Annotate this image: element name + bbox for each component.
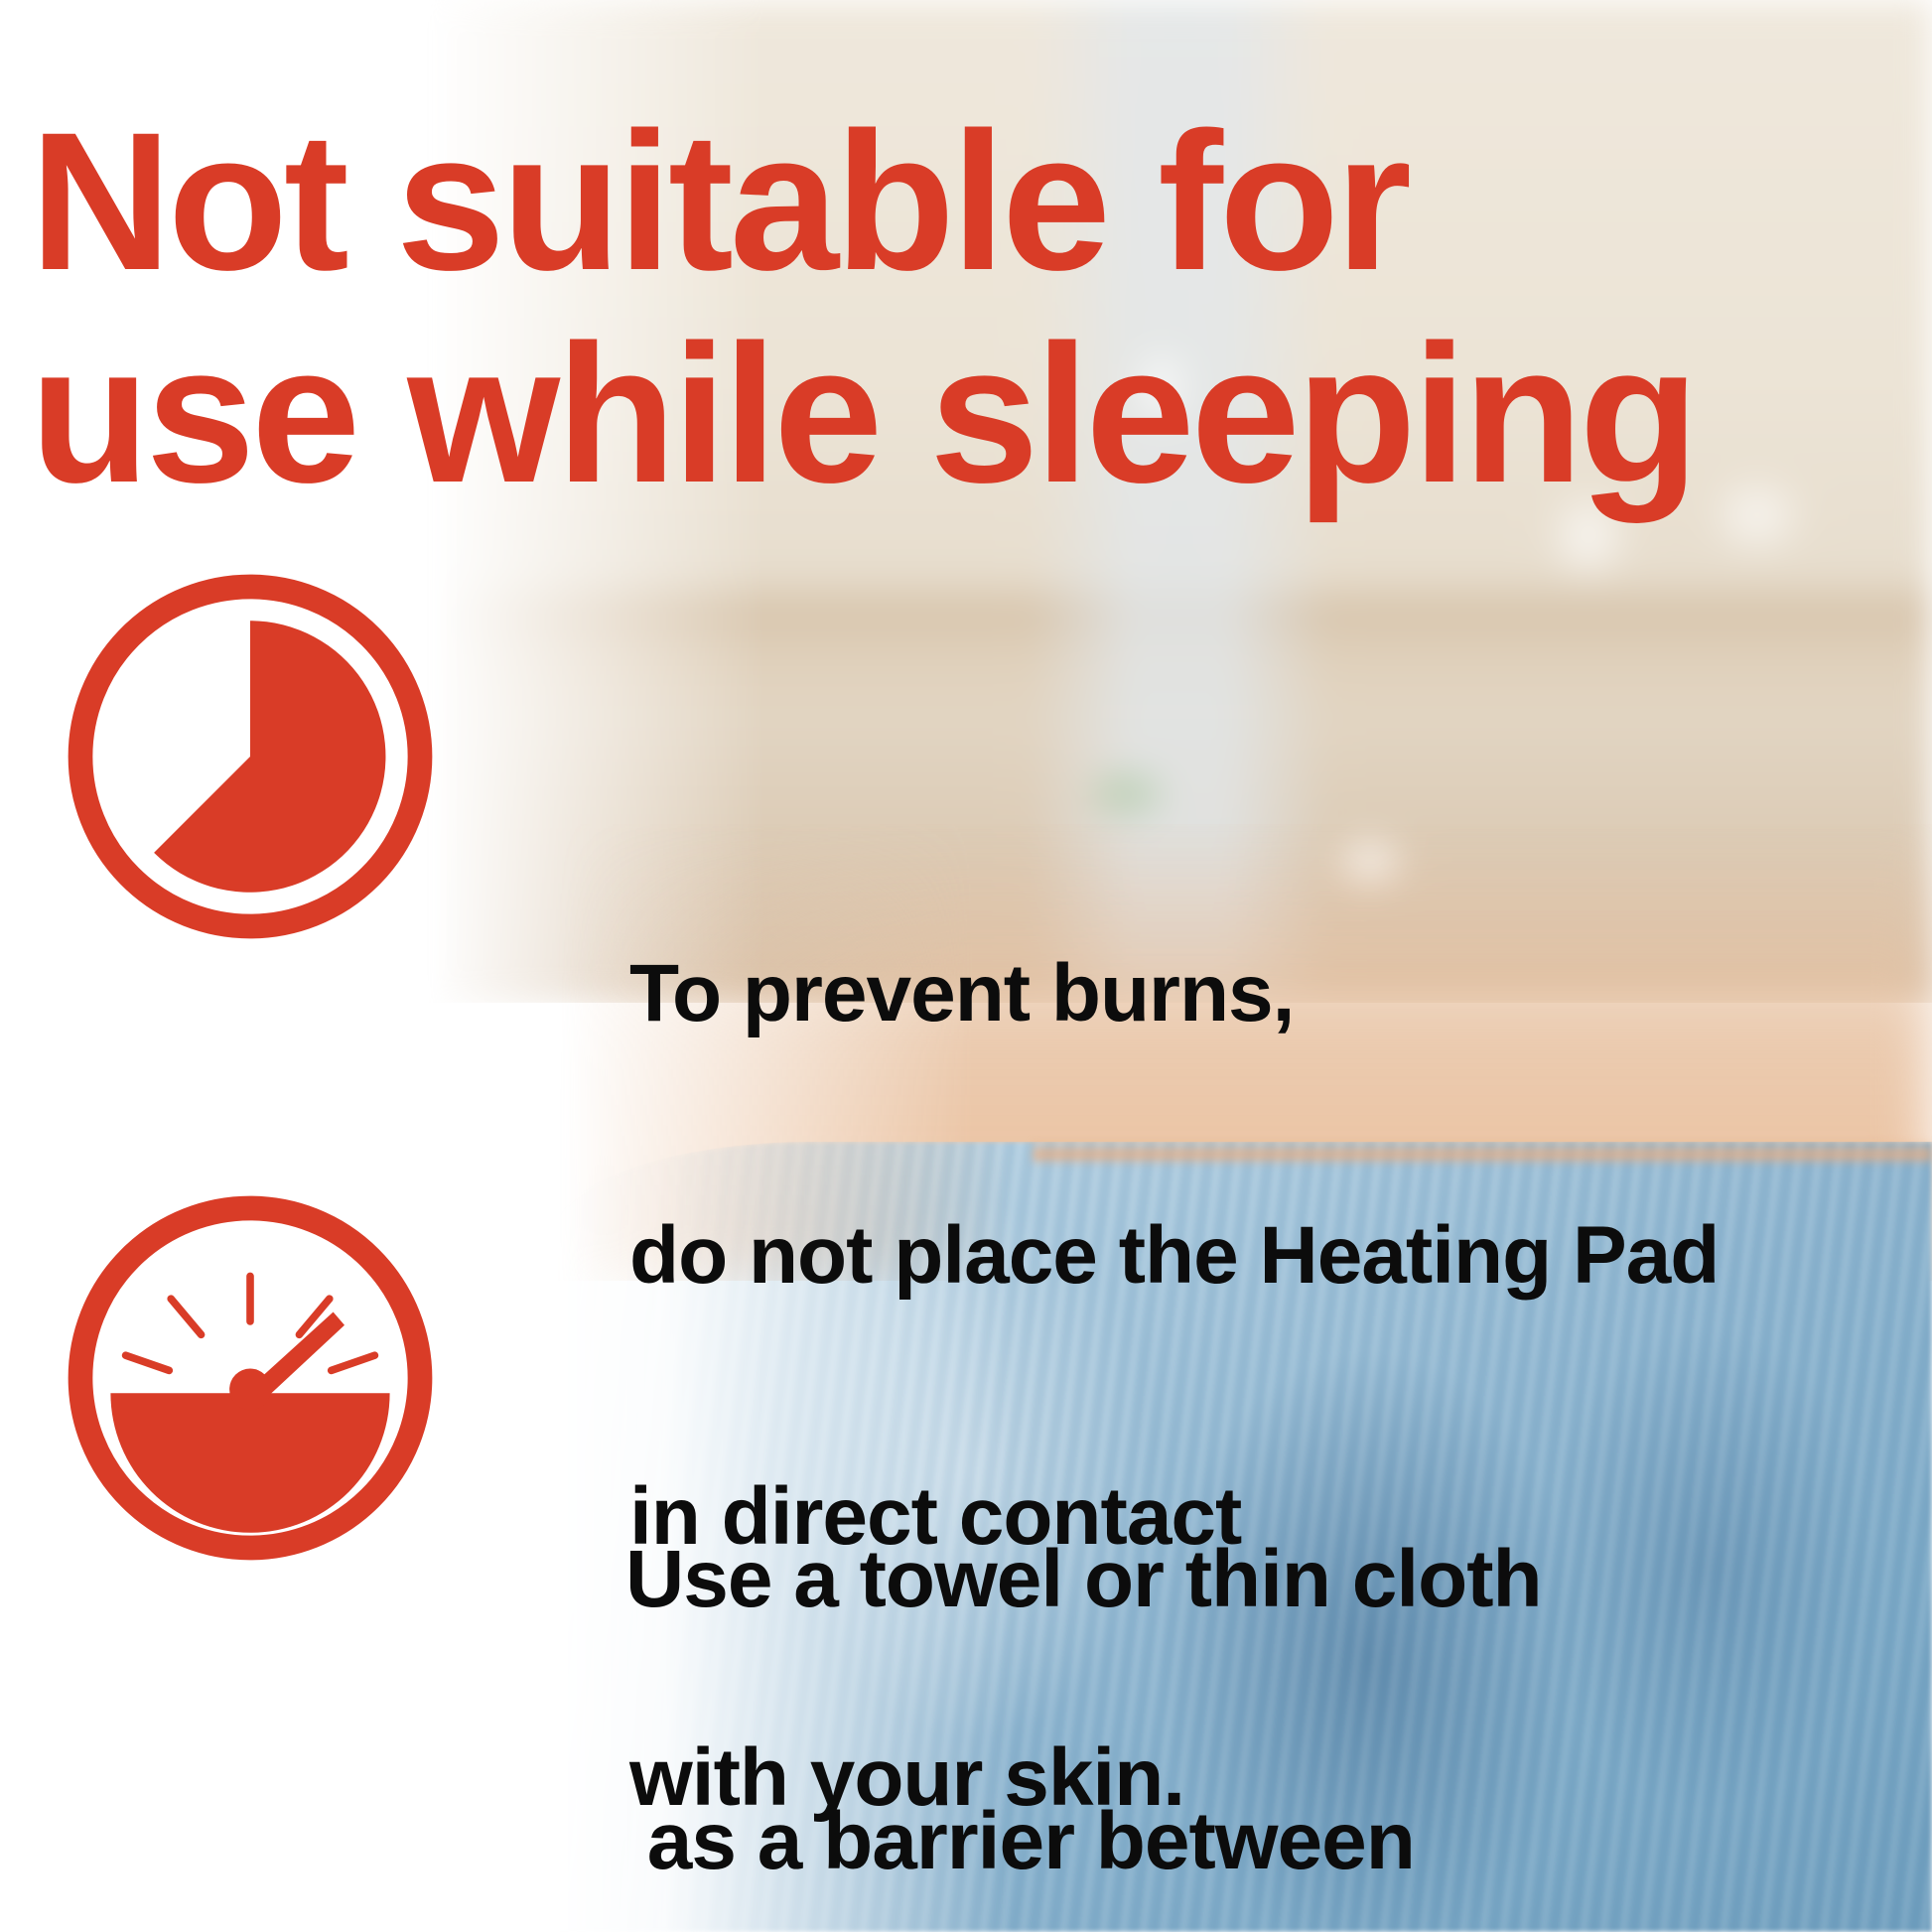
temperature-gauge-icon — [62, 1189, 439, 1567]
clock-pie-icon — [62, 568, 439, 945]
warning-text-barrier: Use a towel or thin cloth as a barrier b… — [625, 1362, 1542, 1932]
headline-line-2: use while sleeping — [30, 308, 1916, 520]
warning-row-burns — [62, 568, 439, 945]
page-title: Not suitable for use while sleeping — [30, 95, 1916, 520]
warning-text-burns-line-1: To prevent burns, — [629, 950, 1719, 1037]
warning-text-burns-line-2: do not place the Heating Pad — [629, 1212, 1719, 1300]
poster-content: Not suitable for use while sleeping To p… — [0, 0, 1932, 1932]
warning-row-barrier — [62, 1189, 439, 1567]
warning-text-barrier-line-1: Use a towel or thin cloth — [625, 1536, 1542, 1623]
warning-text-barrier-line-2: as a barrier between — [625, 1798, 1542, 1885]
headline-line-1: Not suitable for — [30, 95, 1916, 308]
product-warning-poster: Not suitable for use while sleeping To p… — [0, 0, 1932, 1932]
